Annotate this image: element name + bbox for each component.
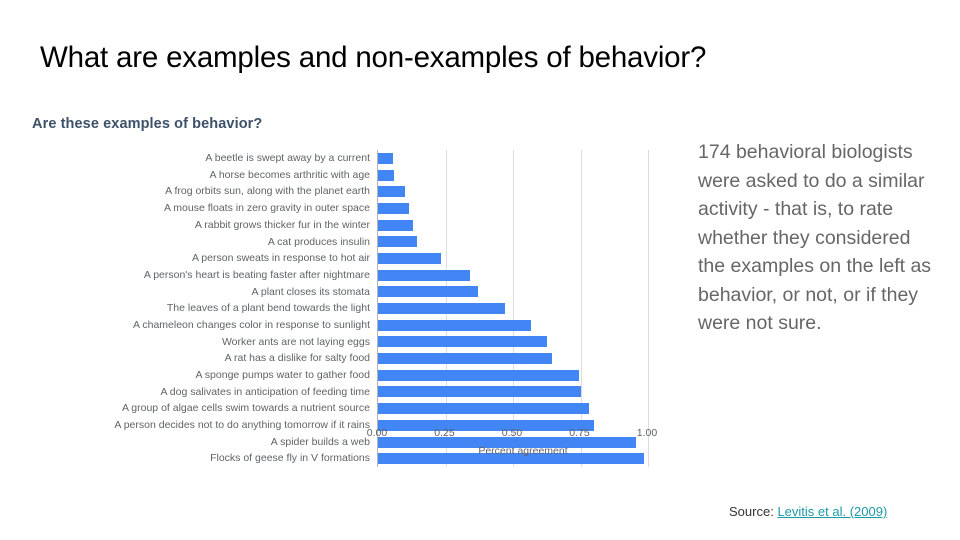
bar-slot: [378, 350, 670, 367]
category-label: Worker ants are not laying eggs: [22, 334, 375, 351]
category-label: A person decides not to do anything tomo…: [22, 417, 375, 434]
chart-bar[interactable]: [378, 203, 409, 214]
chart-value-axis: 0.000.250.500.751.00: [377, 427, 669, 445]
chart-bar[interactable]: [378, 170, 394, 181]
bar-slot: [378, 267, 670, 284]
category-label: A person's heart is beating faster after…: [22, 267, 375, 284]
chart-bar[interactable]: [378, 370, 579, 381]
category-label: A rat has a dislike for salty food: [22, 350, 375, 367]
chart-title: Are these examples of behavior?: [32, 116, 262, 132]
chart-bar[interactable]: [378, 320, 531, 331]
x-axis-tick-label: 0.00: [367, 427, 387, 439]
chart-bar[interactable]: [378, 386, 581, 397]
chart-plot-area: [377, 150, 669, 467]
chart-category-axis: A beetle is swept away by a current A ho…: [22, 150, 375, 467]
chart-bar[interactable]: [378, 403, 589, 414]
bar-slot: [378, 317, 670, 334]
bar-slot: [378, 367, 670, 384]
page-title: What are examples and non-examples of be…: [40, 41, 860, 75]
chart-bar[interactable]: [378, 303, 505, 314]
category-label: A spider builds a web: [22, 434, 375, 451]
bar-slot: [378, 150, 670, 167]
source-label: Source:: [729, 504, 774, 519]
bar-slot: [378, 384, 670, 401]
category-label: A sponge pumps water to gather food: [22, 367, 375, 384]
bar-slot: [378, 217, 670, 234]
category-label: A group of algae cells swim towards a nu…: [22, 400, 375, 417]
chart-bar[interactable]: [378, 286, 478, 297]
x-axis-tick-label: 0.50: [502, 427, 522, 439]
category-label: A rabbit grows thicker fur in the winter: [22, 217, 375, 234]
bar-slot: [378, 334, 670, 351]
category-label: A person sweats in response to hot air: [22, 250, 375, 267]
category-label: A chameleon changes color in response to…: [22, 317, 375, 334]
category-label: A horse becomes arthritic with age: [22, 167, 375, 184]
chart-bar[interactable]: [378, 153, 393, 164]
chart-bar[interactable]: [378, 270, 470, 281]
bar-slot: [378, 183, 670, 200]
category-label: The leaves of a plant bend towards the l…: [22, 300, 375, 317]
bar-slot: [378, 167, 670, 184]
category-label: A frog orbits sun, along with the planet…: [22, 183, 375, 200]
bar-slot: [378, 300, 670, 317]
chart-bar[interactable]: [378, 353, 552, 364]
x-axis-tick-label: 0.25: [434, 427, 454, 439]
bar-slot: [378, 284, 670, 301]
source-link[interactable]: Levitis et al. (2009): [777, 504, 887, 519]
chart-bar[interactable]: [378, 253, 441, 264]
bar-slot: [378, 400, 670, 417]
bar-slot: [378, 200, 670, 217]
category-label: A mouse floats in zero gravity in outer …: [22, 200, 375, 217]
category-label: A beetle is swept away by a current: [22, 150, 375, 167]
source-attribution: Source: Levitis et al. (2009): [729, 504, 887, 519]
x-axis-tick-label: 1.00: [637, 427, 657, 439]
chart-x-axis-title: Percent agreement: [377, 445, 669, 457]
category-label: A plant closes its stomata: [22, 284, 375, 301]
category-label: A cat produces insulin: [22, 233, 375, 250]
chart-bar[interactable]: [378, 236, 417, 247]
category-label: A dog salivates in anticipation of feedi…: [22, 384, 375, 401]
chart-bar[interactable]: [378, 186, 405, 197]
body-paragraph: 174 behavioral biologists were asked to …: [698, 138, 933, 338]
x-axis-tick-label: 0.75: [569, 427, 589, 439]
chart-bar-group: [378, 150, 670, 467]
bar-chart: Are these examples of behavior? A beetle…: [22, 108, 670, 510]
bar-slot: [378, 233, 670, 250]
chart-bar[interactable]: [378, 220, 413, 231]
category-label: Flocks of geese fly in V formations: [22, 450, 375, 467]
chart-bar[interactable]: [378, 336, 547, 347]
bar-slot: [378, 250, 670, 267]
